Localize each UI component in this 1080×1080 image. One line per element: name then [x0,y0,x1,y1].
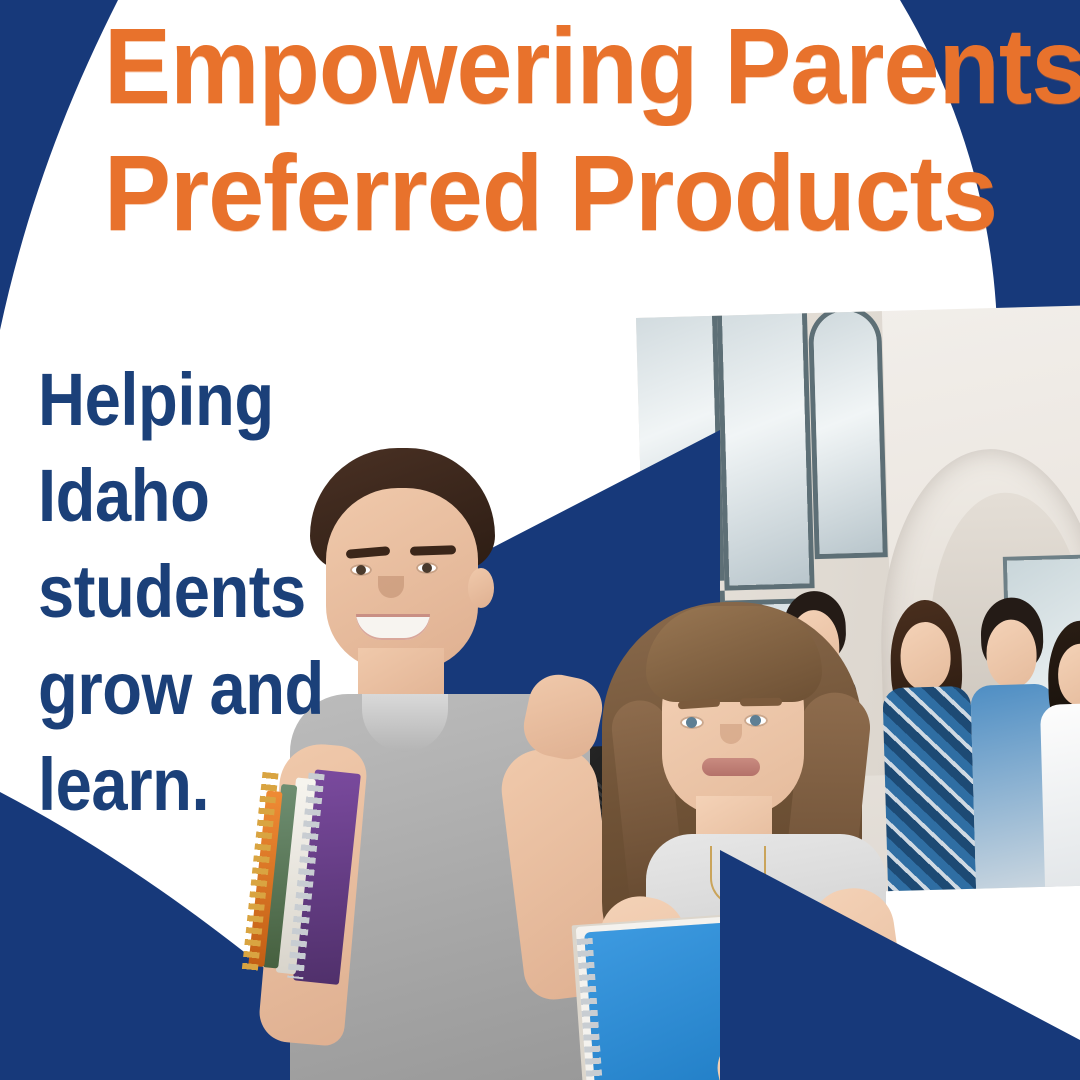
bg-student-4 [1038,619,1080,897]
tagline-line-1: Helping [38,352,302,448]
necklace [710,846,766,906]
tagline-line-4: grow and [38,641,302,737]
female-student [550,596,930,1080]
headline-line-2: Preferred Products [104,141,904,246]
headline-line-1: Empowering Parents [104,14,904,119]
female-lips [702,758,760,776]
page-title: Empowering Parents Preferred Products [104,14,964,246]
foreground-students [250,448,930,1080]
poster-canvas: Empowering Parents Preferred Products He… [0,0,1080,1080]
tagline-line-2: Idaho [38,448,302,544]
necklace-pendant [730,900,746,918]
female-hair-front [646,606,822,702]
male-ear [468,568,494,608]
tagline-line-5: learn. [38,737,302,833]
tagline-line-3: students [38,544,302,640]
tagline: Helping Idaho students grow and learn. [38,352,338,833]
